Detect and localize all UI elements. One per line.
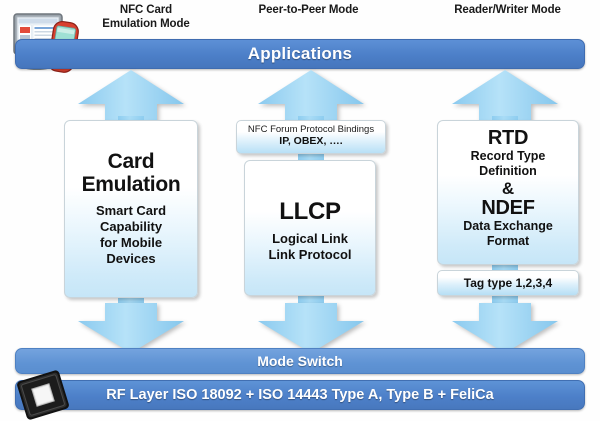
mode-label-line1: Reader/Writer Mode — [425, 3, 590, 17]
arrow-up-icon — [452, 70, 558, 122]
applications-bar-label: Applications — [248, 44, 352, 64]
llcp-title: LLCP — [245, 199, 375, 225]
ndef-line1: Data Exchange — [438, 219, 578, 234]
arrow-down-icon — [452, 303, 558, 353]
card-emulation-sub-line2: Capability — [65, 219, 197, 235]
card-emulation-title: Card Emulation — [65, 151, 197, 196]
nfc-architecture-diagram: NFC Card Emulation Mode Peer-to-Peer Mod… — [0, 0, 600, 421]
mode-label-reader-writer: Reader/Writer Mode — [425, 3, 590, 17]
protocol-bindings-line1: NFC Forum Protocol Bindings — [237, 124, 385, 135]
card-emulation-sub-line4: Devices — [65, 251, 197, 267]
tag-type-label: Tag type 1,2,3,4 — [464, 276, 552, 290]
arrow-up-icon — [78, 70, 184, 122]
mode-label-line1: Peer-to-Peer Mode — [226, 3, 391, 17]
llcp-sub-line1: Logical Link — [245, 231, 375, 247]
mode-label-line2: Emulation Mode — [76, 17, 216, 31]
rf-layer-bar: RF Layer ISO 18092 + ISO 14443 Type A, T… — [15, 380, 585, 410]
rtd-ndef-box: RTD Record Type Definition & NDEF Data E… — [437, 120, 579, 265]
applications-bar: Applications — [15, 39, 585, 69]
card-emulation-box: Card Emulation Smart Card Capability for… — [64, 120, 198, 298]
mode-label-peer-to-peer: Peer-to-Peer Mode — [226, 3, 391, 17]
rtd-line2: Definition — [438, 164, 578, 179]
ndef-line2: Format — [438, 234, 578, 249]
card-emulation-sub-line1: Smart Card — [65, 203, 197, 219]
card-emulation-title-line1: Card — [65, 151, 197, 174]
nfc-chip-icon — [12, 370, 74, 420]
rtd-abbreviation: RTD — [438, 128, 578, 149]
mode-label-card-emulation: NFC Card Emulation Mode — [76, 3, 216, 31]
rtd-line1: Record Type — [438, 149, 578, 164]
arrow-down-icon — [78, 303, 184, 353]
card-emulation-subtitle: Smart Card Capability for Mobile Devices — [65, 203, 197, 266]
protocol-bindings-line2: IP, OBEX, …. — [237, 135, 385, 148]
mode-label-line1: NFC Card — [76, 3, 216, 17]
rf-layer-label: RF Layer ISO 18092 + ISO 14443 Type A, T… — [106, 387, 493, 403]
arrow-up-icon — [258, 70, 364, 122]
card-emulation-title-line2: Emulation — [65, 174, 197, 197]
llcp-subtitle: Logical Link Link Protocol — [245, 231, 375, 263]
card-emulation-sub-line3: for Mobile — [65, 235, 197, 251]
ndef-abbreviation: NDEF — [438, 198, 578, 219]
llcp-box: LLCP Logical Link Link Protocol — [244, 160, 376, 296]
tag-type-box: Tag type 1,2,3,4 — [437, 270, 579, 296]
mode-switch-label: Mode Switch — [257, 353, 343, 369]
ampersand-separator: & — [438, 179, 578, 199]
arrow-down-icon — [258, 303, 364, 353]
mode-switch-bar: Mode Switch — [15, 348, 585, 374]
llcp-sub-line2: Link Protocol — [245, 247, 375, 263]
protocol-bindings-box: NFC Forum Protocol Bindings IP, OBEX, …. — [236, 120, 386, 154]
